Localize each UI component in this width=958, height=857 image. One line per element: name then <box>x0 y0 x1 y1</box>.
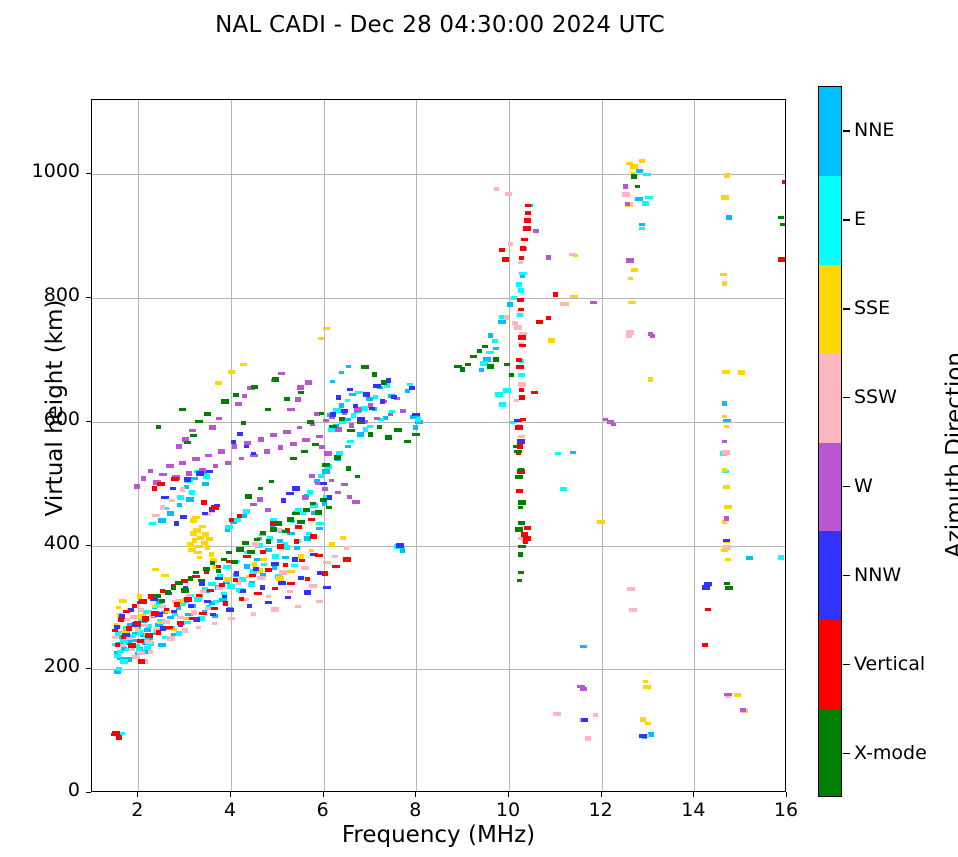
data-point <box>294 546 300 550</box>
data-point <box>323 327 330 330</box>
data-point <box>175 581 183 585</box>
data-point <box>546 316 551 320</box>
data-point <box>295 525 302 529</box>
data-point <box>302 438 310 442</box>
data-point <box>177 495 184 500</box>
data-point <box>297 385 304 390</box>
data-point <box>622 192 630 197</box>
data-point <box>126 626 132 631</box>
data-point <box>237 432 243 436</box>
y-axis-tick <box>86 792 91 793</box>
colorbar <box>818 86 842 797</box>
data-point <box>482 345 488 348</box>
data-point <box>553 292 558 297</box>
data-point <box>171 610 177 613</box>
data-point <box>116 667 122 671</box>
colorbar-segment-e <box>819 176 841 265</box>
data-point <box>477 349 482 353</box>
gridline-horizontal <box>92 298 785 299</box>
data-point <box>299 559 305 562</box>
data-point <box>235 402 242 406</box>
data-point <box>272 377 279 382</box>
data-point <box>330 412 336 417</box>
data-point <box>309 549 314 552</box>
colorbar-label-ssw: SSW <box>854 386 897 408</box>
data-point <box>722 281 727 286</box>
x-axis-tick <box>230 792 231 797</box>
data-point <box>569 253 576 256</box>
colorbar-label-x-mode: X-mode <box>854 742 927 764</box>
data-point <box>650 334 655 338</box>
colorbar-label-vertical: Vertical <box>854 653 925 675</box>
data-point <box>174 521 179 526</box>
colorbar-segment-sse <box>819 265 841 354</box>
data-point <box>265 568 272 572</box>
data-point <box>648 377 653 382</box>
data-point <box>188 604 194 608</box>
data-point <box>223 565 231 569</box>
data-point <box>139 608 144 612</box>
colorbar-label-w: W <box>854 475 873 497</box>
data-point <box>250 503 257 506</box>
data-point <box>630 164 638 169</box>
data-point <box>290 457 297 460</box>
data-point <box>519 272 527 275</box>
gridline-vertical <box>416 100 417 791</box>
gridline-vertical <box>602 100 603 791</box>
data-point <box>261 563 267 566</box>
data-point <box>211 505 219 510</box>
data-point <box>281 498 286 503</box>
data-point <box>269 480 274 483</box>
data-point <box>132 655 140 659</box>
data-point <box>391 395 397 399</box>
data-point <box>253 567 259 571</box>
data-point <box>286 492 294 495</box>
colorbar-tick <box>843 397 850 398</box>
data-point <box>240 363 247 366</box>
data-point <box>152 486 157 491</box>
data-point <box>643 173 651 176</box>
data-point <box>486 351 494 354</box>
data-point <box>357 432 364 437</box>
data-point <box>180 515 187 519</box>
data-point <box>514 450 522 453</box>
data-point <box>187 542 194 547</box>
data-point <box>203 567 210 571</box>
data-point <box>297 520 305 524</box>
data-point <box>590 301 597 304</box>
data-point <box>203 474 210 479</box>
data-point <box>720 273 727 276</box>
data-point <box>252 542 259 547</box>
data-point <box>518 382 526 387</box>
data-point <box>141 624 148 627</box>
data-point <box>416 417 421 422</box>
data-point <box>518 506 523 509</box>
data-point <box>570 451 576 454</box>
data-point <box>580 645 587 648</box>
data-point <box>120 659 128 664</box>
data-point <box>323 586 331 589</box>
data-point <box>210 613 216 616</box>
ionogram-figure: NAL CADI - Dec 28 04:30:00 2024 UTC 2468… <box>0 0 958 857</box>
data-point <box>369 407 375 410</box>
data-point <box>626 258 634 263</box>
data-point <box>341 409 348 413</box>
data-point <box>495 392 503 397</box>
data-point <box>347 429 355 432</box>
data-point <box>292 486 300 491</box>
data-point <box>310 534 317 539</box>
data-point <box>518 261 523 264</box>
data-point <box>335 491 341 494</box>
colorbar-tick <box>843 664 850 665</box>
data-point <box>301 566 309 570</box>
data-point <box>353 404 358 408</box>
data-point <box>151 611 159 616</box>
data-point <box>290 442 297 446</box>
data-point <box>196 626 201 629</box>
data-point <box>225 529 230 532</box>
data-point <box>130 615 138 619</box>
data-point <box>204 412 211 416</box>
data-point <box>134 484 140 489</box>
data-point <box>329 425 337 428</box>
data-point <box>247 550 255 554</box>
data-point <box>195 420 203 423</box>
data-point <box>236 547 244 552</box>
data-point <box>188 548 196 552</box>
data-point <box>201 500 207 505</box>
x-axis-tick <box>693 792 694 797</box>
data-point <box>161 496 169 499</box>
data-point <box>380 399 385 404</box>
data-point <box>159 473 167 476</box>
data-point <box>287 517 294 522</box>
data-point <box>628 277 633 280</box>
data-point <box>158 643 166 647</box>
data-point <box>157 482 165 486</box>
data-point <box>318 474 324 478</box>
data-point <box>513 445 518 448</box>
data-point <box>643 680 648 683</box>
data-point <box>336 395 341 400</box>
data-point <box>228 370 235 374</box>
data-point <box>119 599 127 603</box>
data-point <box>320 482 327 485</box>
data-point <box>316 522 324 525</box>
data-point <box>141 476 146 481</box>
data-point <box>724 693 732 696</box>
data-point <box>327 495 332 500</box>
data-point <box>205 454 212 457</box>
data-point <box>512 321 518 325</box>
data-point <box>355 475 360 478</box>
colorbar-segment-vertical <box>819 620 841 709</box>
data-point <box>193 571 199 574</box>
x-axis-tick-label: 4 <box>200 799 260 821</box>
data-point <box>180 487 185 492</box>
data-point <box>287 590 293 593</box>
colorbar-label-sse: SSE <box>854 297 890 319</box>
data-point <box>202 512 208 515</box>
y-axis-tick <box>86 173 91 174</box>
x-axis-tick-label: 6 <box>293 799 353 821</box>
data-point <box>218 449 225 454</box>
data-point <box>254 538 260 541</box>
data-point <box>260 550 266 554</box>
data-point <box>367 425 373 428</box>
data-point <box>520 246 526 251</box>
colorbar-segment-nne <box>819 87 841 176</box>
data-point <box>593 713 598 717</box>
data-point <box>324 451 332 456</box>
data-point <box>265 548 272 552</box>
data-point <box>189 617 195 620</box>
data-point <box>202 482 209 486</box>
data-point <box>413 425 418 430</box>
data-point <box>524 218 531 223</box>
data-point <box>123 610 130 613</box>
data-point <box>152 514 160 517</box>
x-axis-tick <box>508 792 509 797</box>
x-axis-tick-label: 14 <box>663 799 723 821</box>
colorbar-tick <box>843 575 850 576</box>
data-point <box>347 388 353 391</box>
data-point <box>515 475 523 479</box>
data-point <box>778 257 786 262</box>
data-point <box>247 604 252 608</box>
y-axis-tick <box>86 297 91 298</box>
data-point <box>229 518 234 522</box>
data-point <box>581 718 588 722</box>
data-point <box>516 358 522 362</box>
data-point <box>171 586 176 590</box>
data-point <box>323 561 331 564</box>
data-point <box>251 452 256 455</box>
data-point <box>135 629 140 632</box>
data-point <box>177 621 184 625</box>
colorbar-label-nne: NNE <box>854 119 894 141</box>
data-point <box>285 596 291 599</box>
data-point <box>301 511 306 515</box>
data-point <box>645 196 653 199</box>
data-point <box>160 505 165 510</box>
data-point <box>504 315 509 320</box>
data-point <box>161 574 169 577</box>
data-point <box>139 599 147 604</box>
data-point <box>580 687 587 691</box>
data-point <box>520 275 525 278</box>
data-point <box>340 536 346 540</box>
data-point <box>639 223 645 226</box>
colorbar-tick <box>843 219 850 220</box>
data-point <box>294 539 299 544</box>
data-point <box>355 391 363 394</box>
x-axis-tick <box>415 792 416 797</box>
x-axis-tick <box>137 792 138 797</box>
data-point <box>167 616 174 619</box>
data-point <box>112 629 118 632</box>
data-point <box>260 531 266 535</box>
data-point <box>166 464 174 468</box>
data-point <box>322 469 330 474</box>
data-point <box>192 457 200 461</box>
data-point <box>396 543 404 548</box>
data-point <box>271 607 279 612</box>
data-point <box>746 556 753 560</box>
y-axis-tick-label: 0 <box>10 779 80 801</box>
data-point <box>298 576 304 580</box>
data-point <box>179 461 186 465</box>
data-point <box>152 568 159 571</box>
data-point <box>705 608 711 611</box>
data-point <box>215 577 223 580</box>
data-point <box>316 435 323 438</box>
data-point <box>361 365 369 369</box>
data-point <box>570 295 578 298</box>
data-point <box>277 544 284 549</box>
data-point <box>524 526 531 530</box>
data-point <box>504 363 510 366</box>
data-point <box>221 399 229 404</box>
colorbar-segment-x-mode <box>819 709 841 797</box>
data-point <box>142 616 149 621</box>
data-point <box>226 608 234 612</box>
data-point <box>499 402 506 407</box>
data-point <box>724 425 729 428</box>
data-point <box>725 586 733 590</box>
data-point <box>318 337 324 340</box>
data-point <box>518 500 526 505</box>
data-point <box>145 633 153 638</box>
data-point <box>298 391 304 394</box>
data-point <box>724 505 732 509</box>
data-point <box>343 557 351 562</box>
data-point <box>388 413 393 416</box>
data-point <box>295 605 301 608</box>
data-point <box>167 511 174 516</box>
data-point <box>257 576 265 580</box>
data-point <box>499 248 505 252</box>
data-point <box>241 421 246 425</box>
data-point <box>373 395 378 399</box>
data-point <box>516 365 524 369</box>
colorbar-tick <box>843 308 850 309</box>
data-point <box>156 425 161 429</box>
data-point <box>518 545 526 548</box>
data-point <box>404 440 411 443</box>
data-point <box>239 597 244 601</box>
data-point <box>460 367 465 372</box>
data-point <box>243 509 250 514</box>
colorbar-tick <box>843 486 850 487</box>
data-point <box>202 532 209 537</box>
data-point <box>523 536 531 541</box>
data-point <box>555 452 561 455</box>
data-point <box>722 468 727 472</box>
data-point <box>264 449 270 454</box>
data-point <box>272 587 278 590</box>
data-point <box>210 561 215 565</box>
data-point <box>517 298 524 302</box>
colorbar-tick <box>843 753 850 754</box>
gridline-vertical <box>138 100 139 791</box>
data-point <box>412 433 420 436</box>
data-point <box>515 425 523 430</box>
data-point <box>144 628 151 632</box>
data-point <box>216 417 222 420</box>
data-point <box>470 355 477 358</box>
data-point <box>726 215 732 220</box>
data-point <box>206 470 213 473</box>
data-point <box>626 162 633 165</box>
data-point <box>518 521 525 525</box>
data-point <box>326 506 332 509</box>
data-point <box>297 426 302 429</box>
y-axis-tick-label: 1000 <box>10 160 80 182</box>
data-point <box>305 380 312 385</box>
data-point <box>116 735 122 740</box>
x-axis-tick-label: 12 <box>571 799 631 821</box>
data-point <box>284 397 290 401</box>
data-point <box>231 560 238 564</box>
data-point <box>639 734 647 738</box>
data-point <box>258 487 263 490</box>
colorbar-label-e: E <box>854 208 866 230</box>
data-point <box>266 595 271 598</box>
data-point <box>493 357 499 362</box>
data-point <box>517 579 522 582</box>
data-point <box>221 558 227 561</box>
data-point <box>186 471 192 476</box>
data-point <box>533 229 539 233</box>
y-axis-label: Virtual height (km) <box>42 258 68 558</box>
data-point <box>278 445 283 450</box>
data-point <box>344 546 349 550</box>
colorbar-segment-nnw <box>819 531 841 620</box>
data-point <box>213 600 219 603</box>
data-point <box>553 712 561 716</box>
data-point <box>199 525 206 528</box>
data-point <box>179 603 186 606</box>
data-point <box>347 440 354 443</box>
data-point <box>189 490 195 495</box>
data-point <box>738 370 745 375</box>
data-point <box>243 555 251 558</box>
data-point <box>536 320 543 324</box>
data-point <box>181 588 189 593</box>
gridline-horizontal <box>92 669 785 670</box>
data-point <box>197 556 202 559</box>
data-point <box>153 594 161 598</box>
data-point <box>346 365 351 368</box>
data-point <box>339 417 345 421</box>
data-point <box>282 556 289 559</box>
data-point <box>291 564 298 567</box>
data-point <box>502 257 509 262</box>
data-point <box>722 415 727 418</box>
data-point <box>409 386 415 390</box>
data-point <box>339 403 344 408</box>
data-point <box>170 487 176 490</box>
data-point <box>164 608 169 611</box>
data-point <box>222 595 227 598</box>
data-point <box>642 201 649 206</box>
data-point <box>722 401 727 406</box>
data-point <box>560 302 568 306</box>
